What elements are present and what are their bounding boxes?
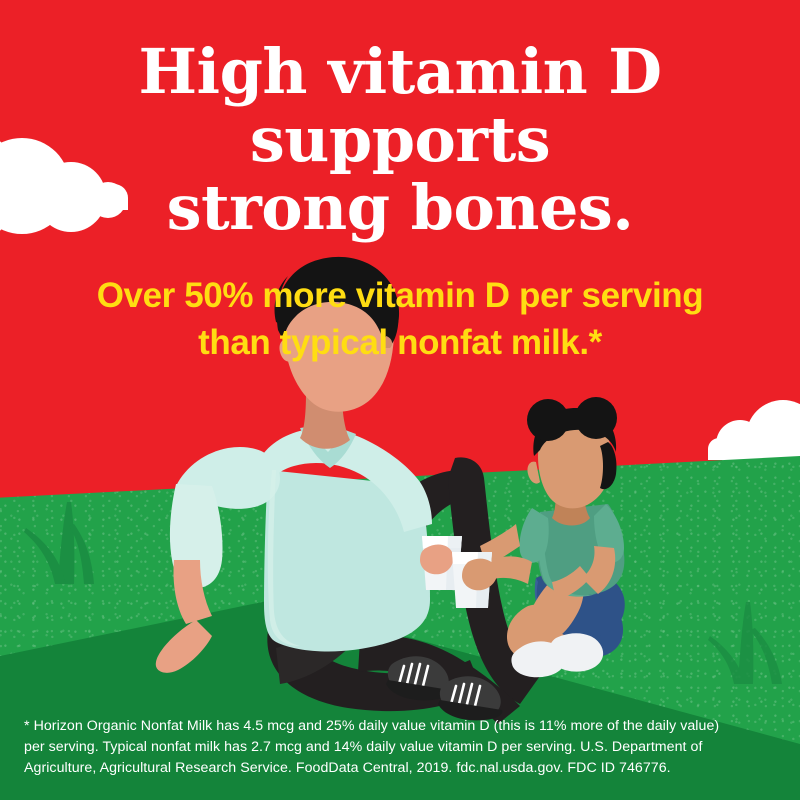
headline-line-1: High vitamin D: [0, 38, 800, 106]
grass-tuft-right-icon: [700, 600, 786, 700]
subheadline: Over 50% more vitamin D per serving than…: [0, 272, 800, 366]
headline-line-2: supports: [0, 106, 800, 174]
footnote-line-2: per serving. Typical nonfat milk has 2.7…: [24, 737, 784, 758]
subheadline-line-2: than typical nonfat milk.*: [0, 319, 800, 366]
grass-tuft-left-icon: [22, 498, 112, 603]
footnote-line-1: * Horizon Organic Nonfat Milk has 4.5 mc…: [24, 716, 784, 737]
footnote-disclaimer: * Horizon Organic Nonfat Milk has 4.5 mc…: [24, 716, 784, 779]
cloud-right-icon: [700, 400, 800, 460]
headline-line-3: strong bones.: [0, 174, 800, 242]
headline: High vitamin D supports strong bones.: [0, 38, 800, 242]
subheadline-line-1: Over 50% more vitamin D per serving: [0, 272, 800, 319]
footnote-line-3: Agriculture, Agricultural Research Servi…: [24, 758, 784, 779]
advertisement-poster: High vitamin D supports strong bones. Ov…: [0, 0, 800, 800]
